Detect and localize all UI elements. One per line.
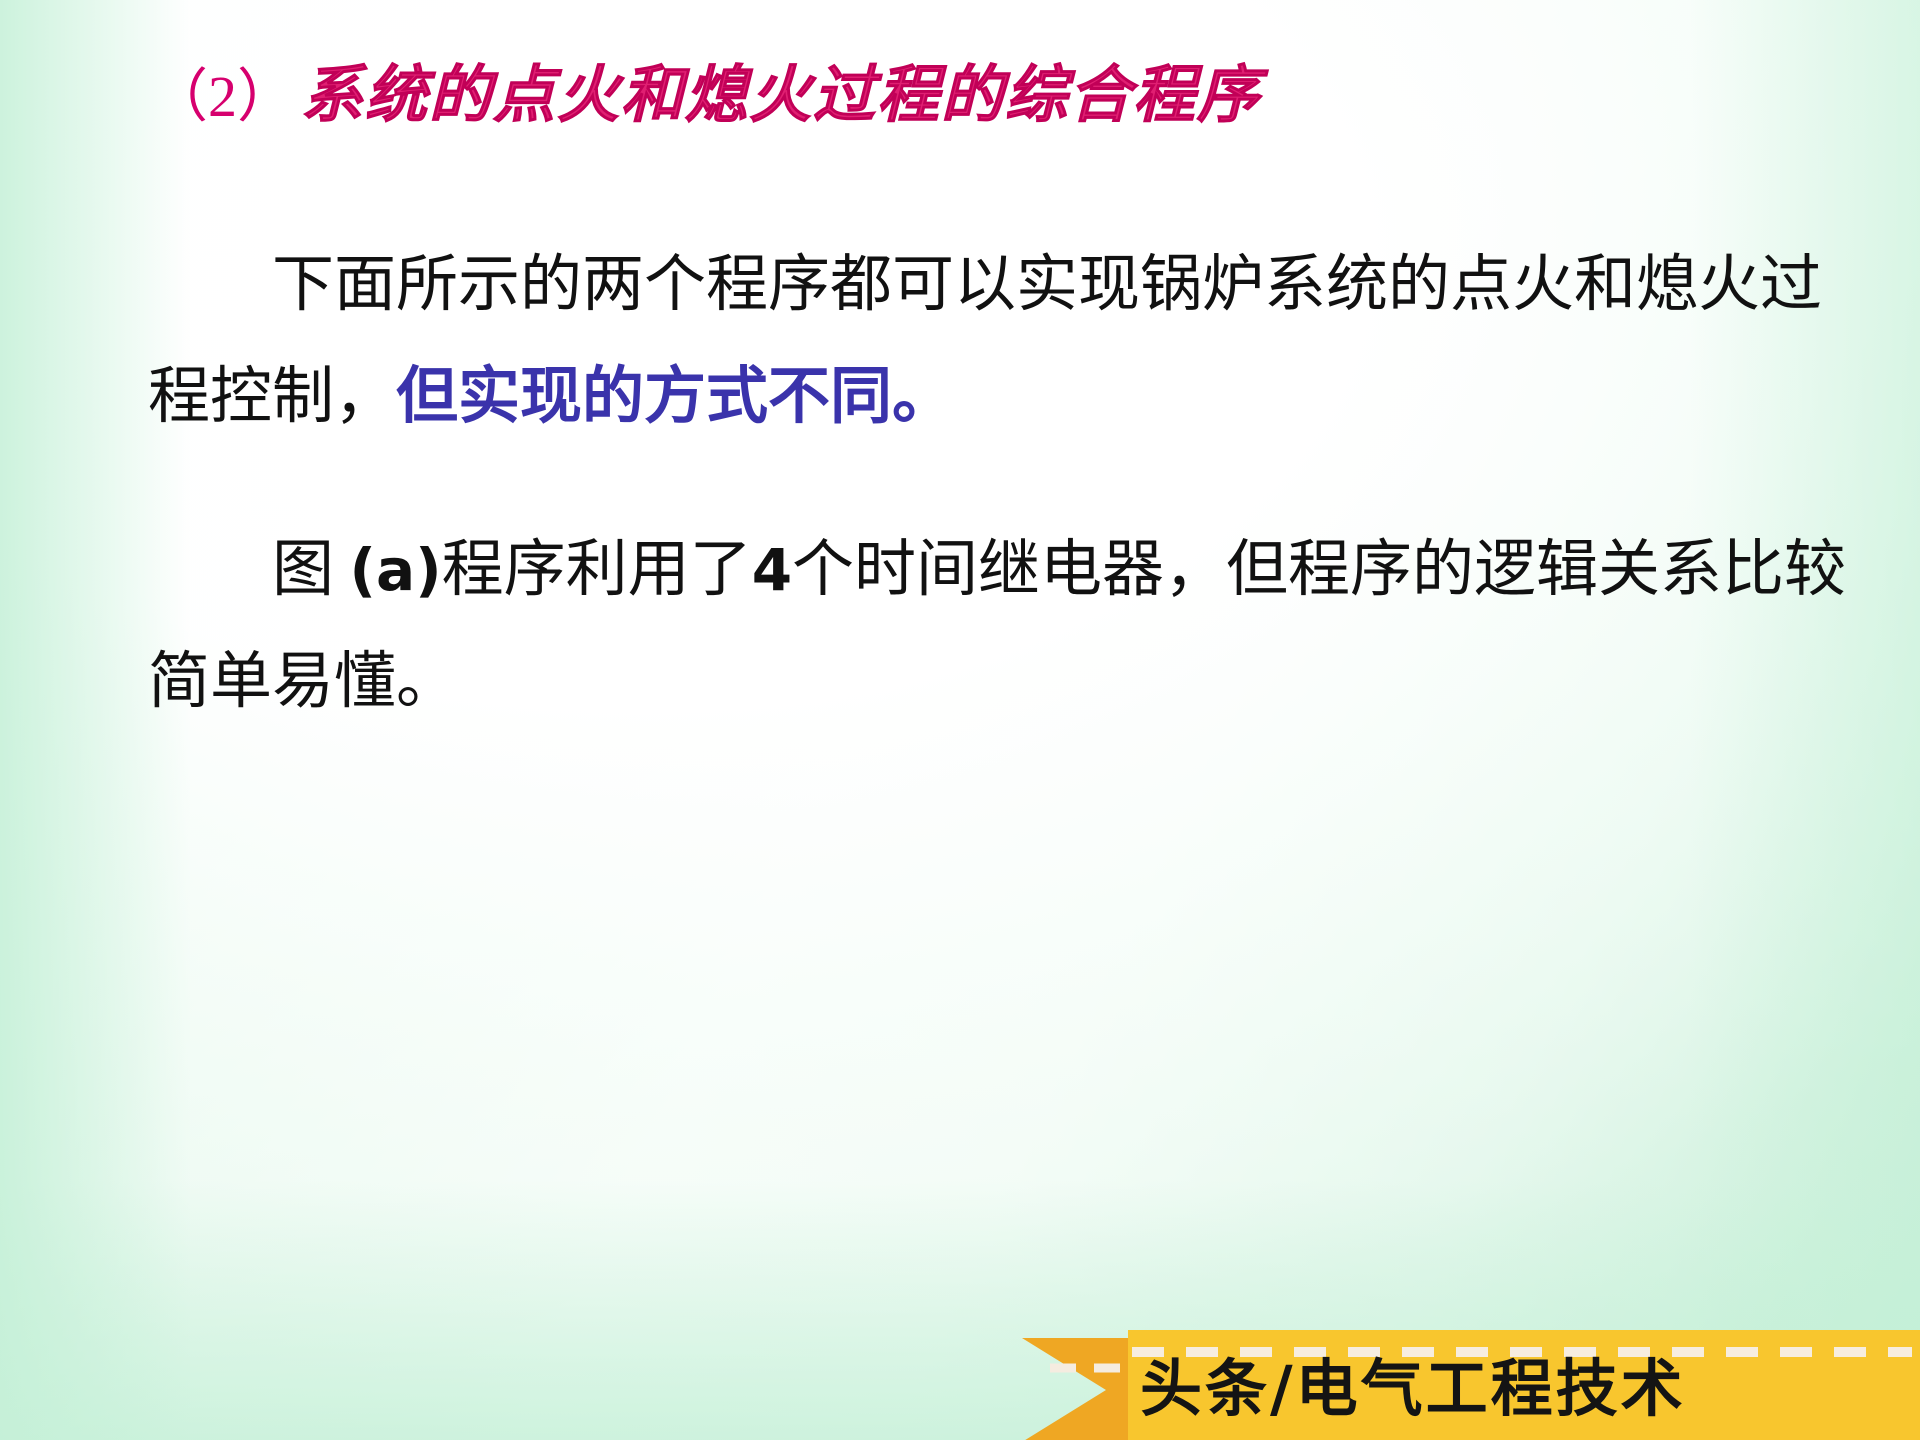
watermark-label: 头条/电气工程技术: [1140, 1358, 1920, 1420]
paragraph-2-segment-1: 图: [272, 536, 350, 604]
watermark-ribbon: 头条/电气工程技术: [1010, 1330, 1920, 1440]
slide-body: 下面所示的两个程序都可以实现锅炉系统的点火和熄火过程控制，但实现的方式不同。 图…: [148, 168, 1848, 800]
paragraph-1: 下面所示的两个程序都可以实现锅炉系统的点火和熄火过程控制，但实现的方式不同。: [148, 230, 1848, 453]
slide-title-text: 系统的点火和熄火过程的综合程序: [295, 58, 1261, 131]
paragraph-1-segment-highlight: 但实现的方式不同。: [396, 363, 954, 431]
slide-title: （2）系统的点火和熄火过程的综合程序: [150, 62, 1850, 128]
paragraph-2-relay-count: 4: [752, 536, 792, 604]
presentation-slide: （2）系统的点火和熄火过程的综合程序 下面所示的两个程序都可以实现锅炉系统的点火…: [0, 0, 1920, 1440]
paragraph-2-figure-label: (a): [350, 536, 442, 604]
paragraph-2: 图 (a)程序利用了4个时间继电器，但程序的逻辑关系比较简单易懂。: [148, 515, 1848, 738]
slide-title-number: （2）: [150, 64, 295, 129]
paragraph-2-segment-2: 程序利用了: [442, 536, 752, 604]
